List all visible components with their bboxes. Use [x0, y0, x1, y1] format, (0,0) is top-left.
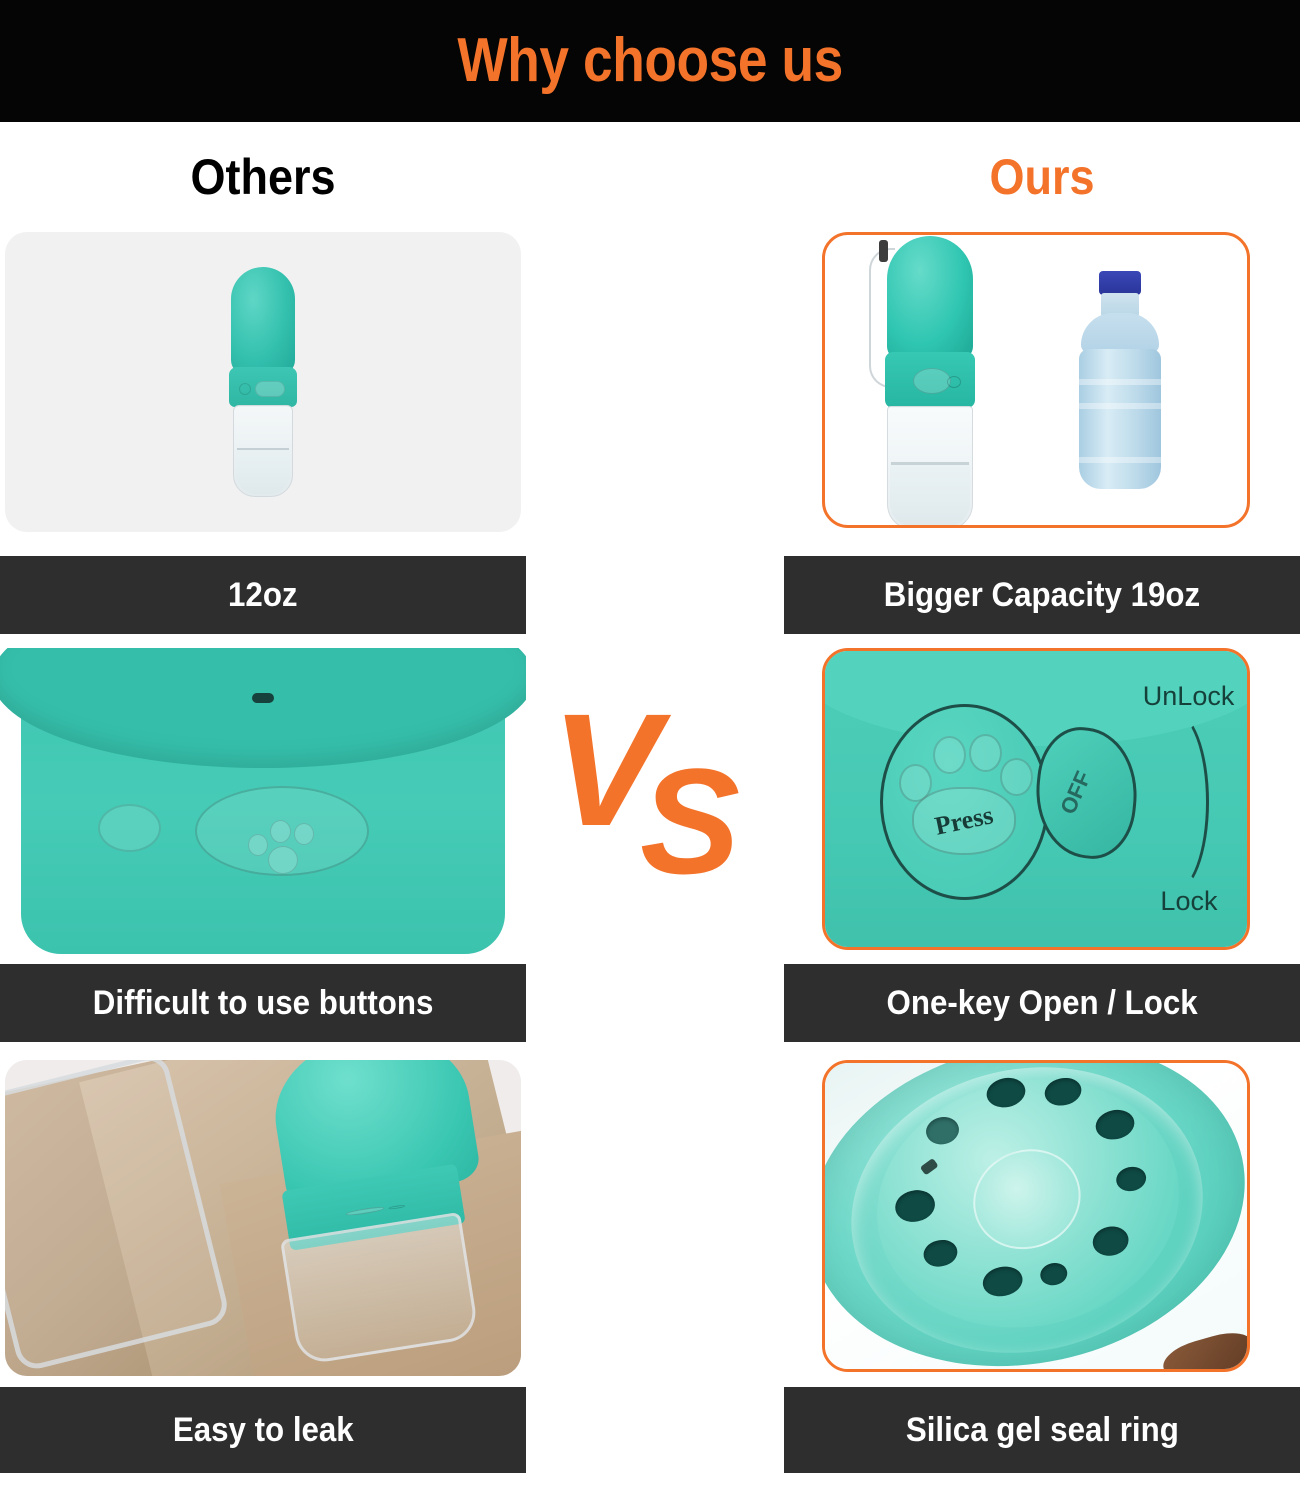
others-caption-sealing: Easy to leak — [0, 1387, 526, 1473]
others-caption-buttons-text: Difficult to use buttons — [93, 986, 434, 1020]
silica-seal-ring-illustration — [825, 1063, 1247, 1369]
ours-caption-sealing: Silica gel seal ring — [784, 1387, 1300, 1473]
others-row-sealing-media — [0, 1060, 526, 1376]
ours-row-buttons-media: Press OFF UnLock Lock — [784, 648, 1300, 954]
others-row-capacity-media — [0, 232, 526, 532]
others-column: 12oz — [0, 0, 526, 1493]
ours-caption-buttons-text: One-key Open / Lock — [886, 986, 1197, 1020]
off-label: OFF — [1055, 767, 1097, 818]
ours-row-capacity-media — [784, 232, 1300, 532]
lock-label: Lock — [1160, 886, 1217, 917]
oval-paw-button — [195, 786, 369, 876]
ours-caption-capacity-text: Bigger Capacity 19oz — [884, 578, 1200, 612]
press-button-disc: Press — [880, 704, 1049, 899]
leaking-bottle-photo-illustration — [5, 1060, 521, 1376]
orange-frame-capacity — [822, 232, 1250, 528]
vs-badge: V S — [545, 690, 775, 890]
others-caption-sealing-text: Easy to leak — [173, 1413, 354, 1447]
orange-frame-buttons: Press OFF UnLock Lock — [822, 648, 1250, 950]
leaking-bottle — [251, 1060, 521, 1354]
one-key-lock-illustration: Press OFF UnLock Lock — [825, 651, 1247, 947]
others-caption-capacity-text: 12oz — [228, 578, 298, 612]
bottle-cap-closeup-illustration — [0, 648, 526, 954]
others-row-buttons-media — [0, 648, 526, 954]
vs-logo-icon: V S — [555, 695, 765, 885]
plastic-water-bottle-illustration — [1065, 271, 1175, 501]
ours-row-sealing-media — [784, 1060, 1300, 1376]
others-caption-buttons: Difficult to use buttons — [0, 964, 526, 1042]
ours-column: Bigger Capacity 19oz — [784, 0, 1300, 1493]
small-round-button — [98, 804, 161, 852]
lock-rotation-arc — [1150, 710, 1209, 894]
unlock-label: UnLock — [1143, 681, 1235, 712]
cap-vent-hole-icon — [252, 693, 274, 703]
large-pet-bottle-illustration — [861, 232, 991, 528]
ours-caption-sealing-text: Silica gel seal ring — [906, 1413, 1179, 1447]
ours-caption-buttons: One-key Open / Lock — [784, 964, 1300, 1042]
small-pet-bottle-illustration — [217, 267, 309, 497]
svg-text:S: S — [640, 737, 740, 885]
others-caption-capacity: 12oz — [0, 556, 526, 634]
orange-frame-sealing — [822, 1060, 1250, 1372]
ours-caption-capacity: Bigger Capacity 19oz — [784, 556, 1300, 634]
comparison-infographic: Why choose us Others Ours — [0, 0, 1300, 1493]
